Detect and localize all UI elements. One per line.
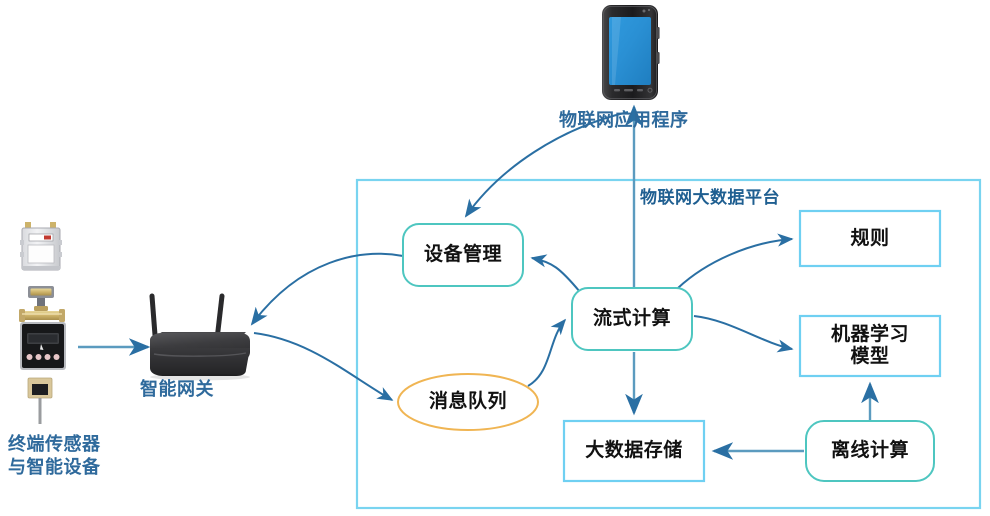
edge-device-management-to-gateway — [252, 254, 403, 324]
smart-gateway-caption: 智能网关 — [140, 379, 214, 402]
node-shape-bigdata-storage[interactable] — [564, 421, 704, 481]
node-shape-message-queue[interactable] — [398, 374, 538, 430]
node-shape-offline-computing[interactable] — [806, 421, 934, 481]
edge-stream-computing-to-rules — [678, 239, 792, 288]
edge-stream-computing-to-ml-model — [694, 316, 792, 349]
end-sensors-caption: 终端传感器 与智能设备 — [8, 434, 101, 479]
electric-meter-icon — [20, 222, 62, 270]
edge-gateway-to-message-queue — [254, 333, 392, 400]
node-shape-rules[interactable] — [800, 211, 940, 266]
flow-meter-icon — [19, 286, 65, 322]
platform-title: 物联网大数据平台 — [640, 183, 780, 208]
pole-sensor-icon — [28, 378, 52, 424]
edge-message-queue-to-stream-computing — [528, 320, 565, 386]
smart-gateway-router-icon — [150, 296, 250, 380]
edge-stream-computing-to-device-management — [532, 258, 580, 292]
diagram-canvas: 物联网大数据平台 设备管理 流式计算 消息队列 规则 机器学习 模型 大数据存储… — [0, 0, 990, 516]
diagram-svg — [0, 0, 990, 516]
node-shape-stream-computing[interactable] — [572, 288, 692, 350]
iot-app-phone-icon — [602, 5, 660, 100]
node-shape-ml-model[interactable] — [800, 316, 940, 376]
node-shape-device-management[interactable] — [403, 224, 523, 286]
controller-panel-icon — [20, 322, 66, 370]
iot-app-caption: 物联网应用程序 — [559, 110, 689, 133]
